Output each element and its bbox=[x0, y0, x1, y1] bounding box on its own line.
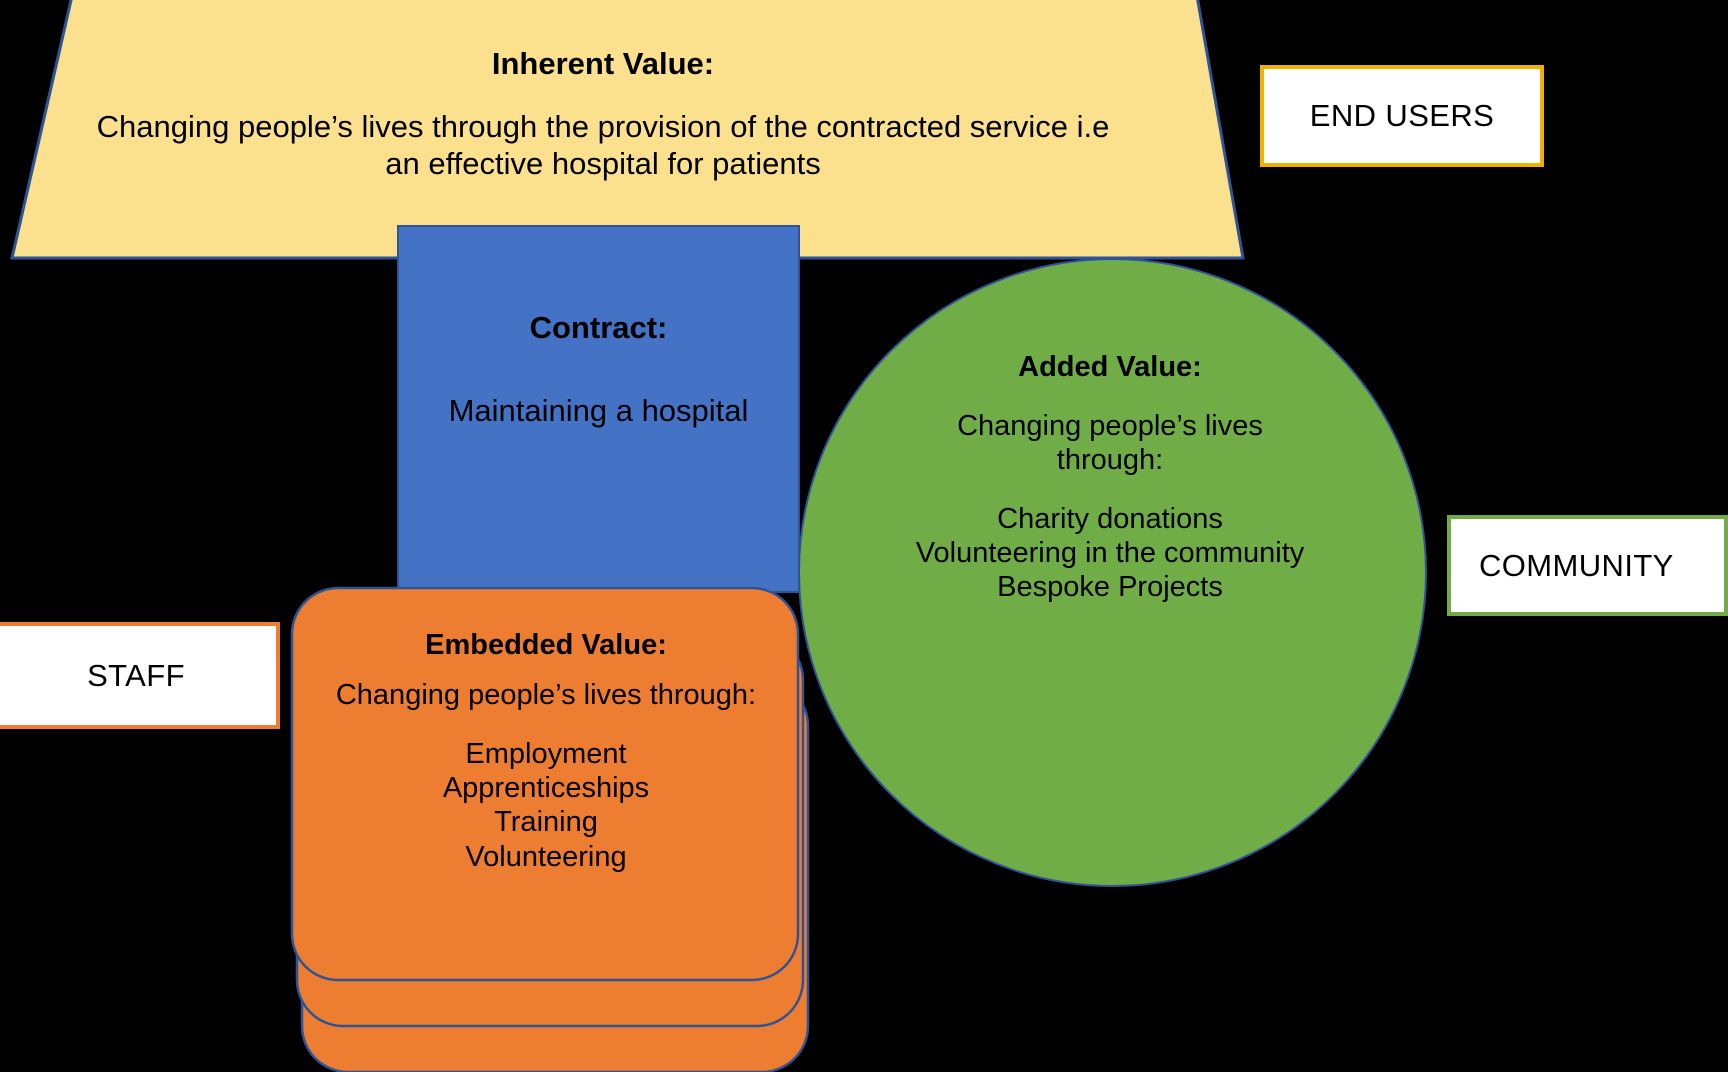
inherent-value-body-line-2: an effective hospital for patients bbox=[48, 146, 1158, 183]
added-value-item: Charity donations bbox=[900, 502, 1320, 536]
embedded-value-item: Employment bbox=[296, 737, 796, 771]
label-staff-text: STAFF bbox=[87, 658, 185, 694]
spacer bbox=[296, 662, 796, 678]
added-value-body-line-1: Changing people’s lives bbox=[900, 409, 1320, 443]
embedded-value-text: Embedded Value: Changing people’s lives … bbox=[296, 628, 796, 874]
label-community[interactable]: COMMUNITY bbox=[1447, 515, 1728, 616]
embedded-value-body-line-1: Changing people’s lives through: bbox=[296, 678, 796, 712]
embedded-value-item: Apprenticeships bbox=[296, 771, 796, 805]
spacer bbox=[900, 477, 1320, 502]
embedded-value-item: Training bbox=[296, 805, 796, 839]
embedded-value-heading: Embedded Value: bbox=[296, 628, 796, 662]
added-value-text: Added Value: Changing people’s lives thr… bbox=[900, 350, 1320, 605]
contract-heading: Contract: bbox=[397, 310, 800, 347]
added-value-item: Volunteering in the community bbox=[900, 536, 1320, 570]
embedded-value-item: Volunteering bbox=[296, 840, 796, 874]
label-staff[interactable]: STAFF bbox=[0, 622, 280, 729]
spacer bbox=[296, 712, 796, 737]
inherent-value-heading: Inherent Value: bbox=[48, 46, 1158, 83]
spacer bbox=[900, 384, 1320, 409]
added-value-item: Bespoke Projects bbox=[900, 570, 1320, 604]
inherent-value-body-line-1: Changing people’s lives through the prov… bbox=[48, 109, 1158, 146]
spacer bbox=[48, 83, 1158, 109]
contract-body-line-1: Maintaining a hospital bbox=[397, 393, 800, 430]
spacer bbox=[397, 347, 800, 394]
diagram-canvas: Inherent Value: Changing people’s lives … bbox=[0, 0, 1728, 1072]
inherent-value-text: Inherent Value: Changing people’s lives … bbox=[48, 46, 1158, 182]
label-end-users-text: END USERS bbox=[1310, 98, 1494, 134]
contract-text: Contract: Maintaining a hospital bbox=[397, 310, 800, 430]
label-end-users[interactable]: END USERS bbox=[1260, 65, 1544, 167]
added-value-heading: Added Value: bbox=[900, 350, 1320, 384]
added-value-body-line-2: through: bbox=[900, 443, 1320, 477]
label-community-text: COMMUNITY bbox=[1479, 548, 1674, 584]
